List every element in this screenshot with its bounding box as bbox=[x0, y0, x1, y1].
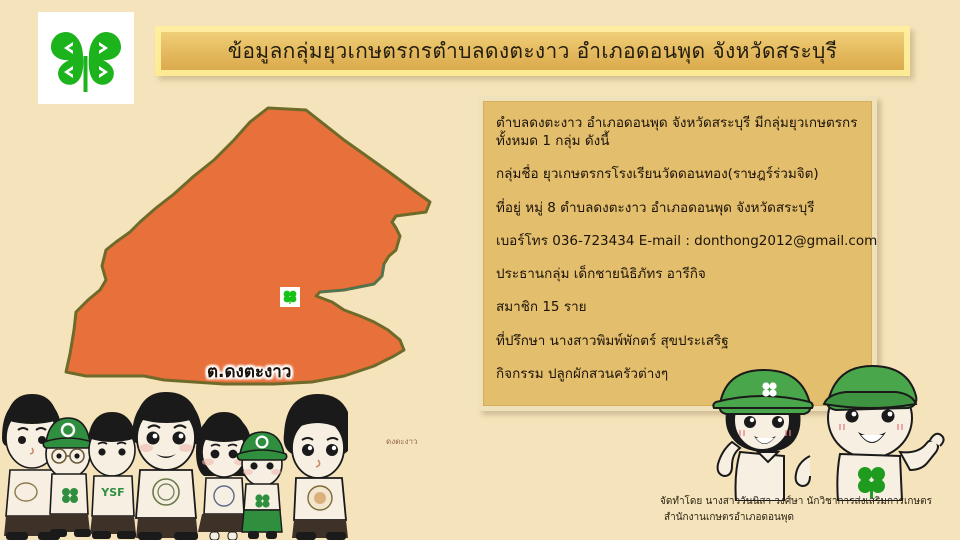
map-area-label: ต.ดงตะงาว bbox=[207, 358, 291, 385]
four-leaf-clover-icon bbox=[47, 20, 125, 96]
page-title: ข้อมูลกลุ่มยุวเกษตรกรตำบลดงตะงาว อำเภอดอ… bbox=[228, 35, 838, 68]
info-line-intro-2: ทั้งหมด 1 กลุ่ม ดังนี้ bbox=[496, 132, 861, 150]
info-line-advisor: ที่ปรึกษา นางสาวพิมพ์พักตร์ สุขประเสริฐ bbox=[496, 332, 861, 350]
credit-line-office: สำนักงานเกษตรอำเภอดอนพุด bbox=[660, 510, 950, 526]
two-youth-farmers-illustration bbox=[702, 356, 960, 501]
right-character-group bbox=[702, 356, 960, 501]
map-area-sublabel: ดงตะงาว bbox=[386, 435, 417, 448]
title-banner: ข้อมูลกลุ่มยุวเกษตรกรตำบลดงตะงาว อำเภอดอ… bbox=[155, 26, 910, 76]
info-line-address: ที่อยู่ หมู่ 8 ตำบลดงตะงาว อำเภอดอนพุด จ… bbox=[496, 199, 861, 217]
seven-youth-farmers-illustration: YSF bbox=[0, 386, 348, 540]
info-line-intro-1: ตำบลดงตะงาว อำเภอดอนพุด จังหวัดสระบุรี ม… bbox=[496, 114, 861, 132]
tambon-map: ต.ดงตะงาว ดงตะงาว bbox=[44, 104, 464, 384]
info-line-members: สมาชิก 15 ราย bbox=[496, 298, 861, 316]
four-leaf-clover-marker-icon bbox=[282, 289, 298, 305]
map-shape bbox=[44, 104, 464, 389]
left-character-group: YSF bbox=[0, 386, 348, 540]
slide-root: ข้อมูลกลุ่มยุวเกษตรกรตำบลดงตะงาว อำเภอดอ… bbox=[0, 0, 960, 540]
info-line-group-name: กลุ่มชื่อ ยุวเกษตรกรโรงเรียนวัดดอนทอง(รา… bbox=[496, 165, 861, 183]
credit-line-author: จัดทำโดย นางสาววันนิสา วงศ์ษา นักวิชาการ… bbox=[660, 494, 950, 510]
title-banner-inner: ข้อมูลกลุ่มยุวเกษตรกรตำบลดงตะงาว อำเภอดอ… bbox=[161, 32, 904, 70]
svg-text:YSF: YSF bbox=[100, 486, 124, 499]
info-line-president: ประธานกลุ่ม เด็กชายนิธิภัทร อารีกิจ bbox=[496, 265, 861, 283]
map-clover-marker bbox=[280, 287, 300, 307]
credit-block: จัดทำโดย นางสาววันนิสา วงศ์ษา นักวิชาการ… bbox=[660, 494, 950, 525]
clover-logo-box bbox=[38, 12, 134, 104]
info-line-contact: เบอร์โทร 036-723434 E-mail : donthong201… bbox=[496, 232, 861, 250]
